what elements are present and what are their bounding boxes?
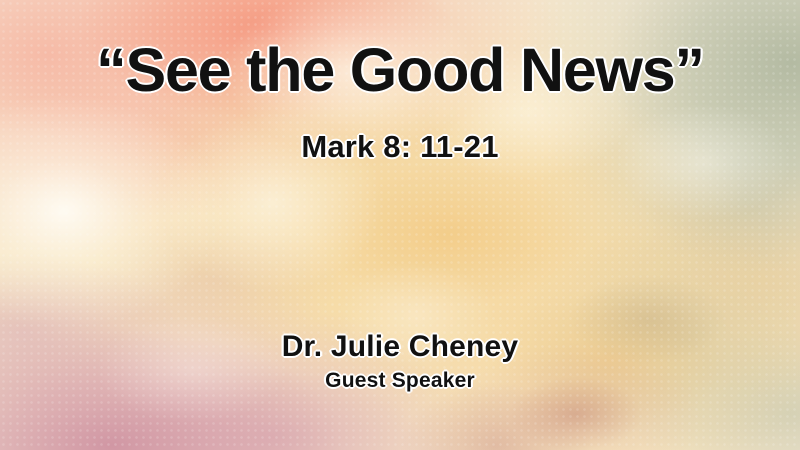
presentation-slide: “See the Good News” Mark 8: 11-21 Dr. Ju… [0,0,800,450]
slide-content: “See the Good News” Mark 8: 11-21 Dr. Ju… [0,0,800,450]
speaker-role: Guest Speaker [0,369,800,392]
sermon-title: “See the Good News” [0,38,800,104]
speaker-name: Dr. Julie Cheney [0,330,800,363]
scripture-reference: Mark 8: 11-21 [0,130,800,164]
